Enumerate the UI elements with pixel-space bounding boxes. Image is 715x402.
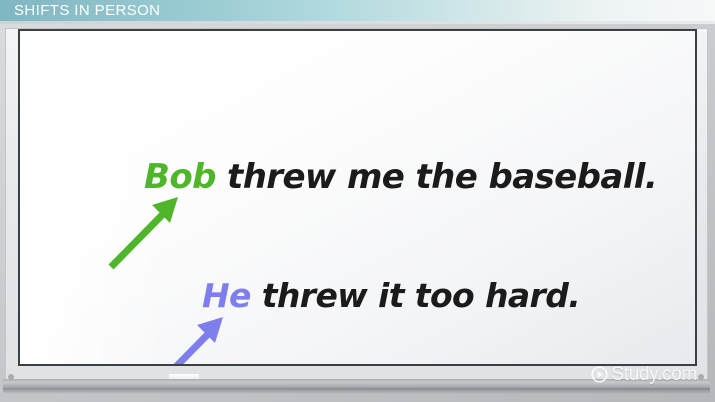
sentence-one: Bob threw me the baseball. [144,157,657,197]
frame-screw-left [8,374,14,380]
slide-canvas: SHIFTS IN PERSON Bob threw me the baseba… [0,0,715,402]
play-circle-icon [591,366,608,383]
green-arrow-icon [106,194,186,272]
frame-screw-right [698,374,704,380]
sentence-two-predicate: threw it too hard. [251,276,580,315]
watermark: Study.com [591,365,697,384]
sentence-two: He threw it too hard. [202,276,580,315]
header-bar: SHIFTS IN PERSON [0,0,715,21]
sentence-one-predicate: threw me the baseball. [216,157,657,197]
sentence-two-subject: He [202,276,251,315]
sentence-one-subject: Bob [144,157,216,197]
purple-arrow-icon [151,314,231,364]
page-title: SHIFTS IN PERSON [14,1,160,21]
ledge-shadow [3,388,710,394]
watermark-text: Study.com [611,365,697,384]
whiteboard-surface: Bob threw me the baseball. He threw it t… [20,31,695,364]
